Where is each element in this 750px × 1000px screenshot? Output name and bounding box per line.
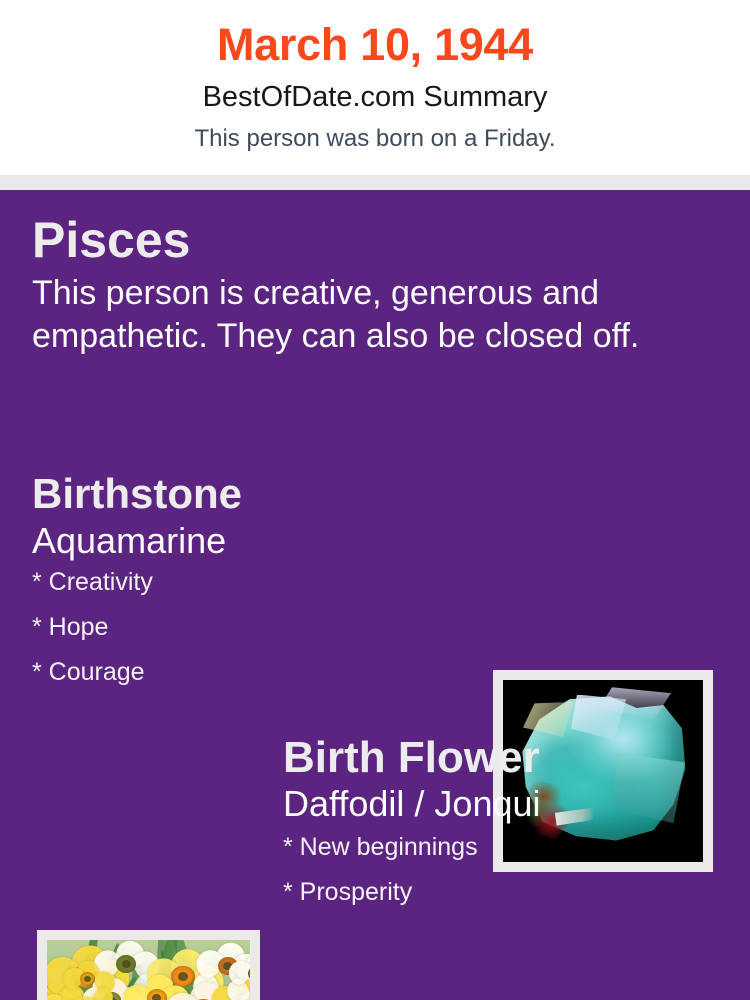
birthstone-trait-list: * Creativity * Hope * Courage (32, 570, 472, 685)
list-item: * Courage (32, 660, 472, 685)
zodiac-sign-heading: Pisces (32, 215, 722, 266)
birth-flower-image-frame (37, 930, 260, 1000)
list-item: * Hope (32, 615, 472, 640)
weekday-note: This person was born on a Friday. (0, 127, 750, 151)
flower-corona (116, 955, 136, 973)
zodiac-section: Pisces This person is creative, generous… (32, 215, 722, 358)
daffodil-artwork (47, 940, 250, 1000)
birth-flower-trait-list: * New beginnings * Prosperity (283, 835, 723, 905)
birthday-summary-card: March 10, 1944 BestOfDate.com Summary Th… (0, 0, 750, 1000)
flower-corona (147, 989, 167, 1000)
birthstone-heading: Birthstone (32, 472, 472, 516)
birth-flower-section: Birth Flower Daffodil / Jonqui * New beg… (283, 735, 723, 925)
list-item: * New beginnings (283, 835, 723, 860)
daffodil-field-image (47, 940, 250, 1000)
zodiac-description: This person is creative, generous and em… (32, 272, 704, 358)
birth-flower-heading: Birth Flower (283, 735, 723, 781)
flower-corona (80, 972, 95, 986)
list-item: * Prosperity (283, 880, 723, 905)
birthstone-section: Birthstone Aquamarine * Creativity * Hop… (32, 472, 472, 705)
content-panel: Pisces This person is creative, generous… (0, 190, 750, 1000)
site-name-subtitle: BestOfDate.com Summary (0, 83, 750, 112)
page-title-date: March 10, 1944 (0, 22, 750, 67)
birthstone-name: Aquamarine (32, 522, 472, 560)
birth-flower-name: Daffodil / Jonqui (283, 785, 723, 823)
header: March 10, 1944 BestOfDate.com Summary Th… (0, 0, 750, 175)
list-item: * Creativity (32, 570, 472, 595)
header-divider (0, 175, 750, 190)
daffodil-bloom (234, 954, 250, 994)
daffodil-bloom (67, 962, 108, 998)
